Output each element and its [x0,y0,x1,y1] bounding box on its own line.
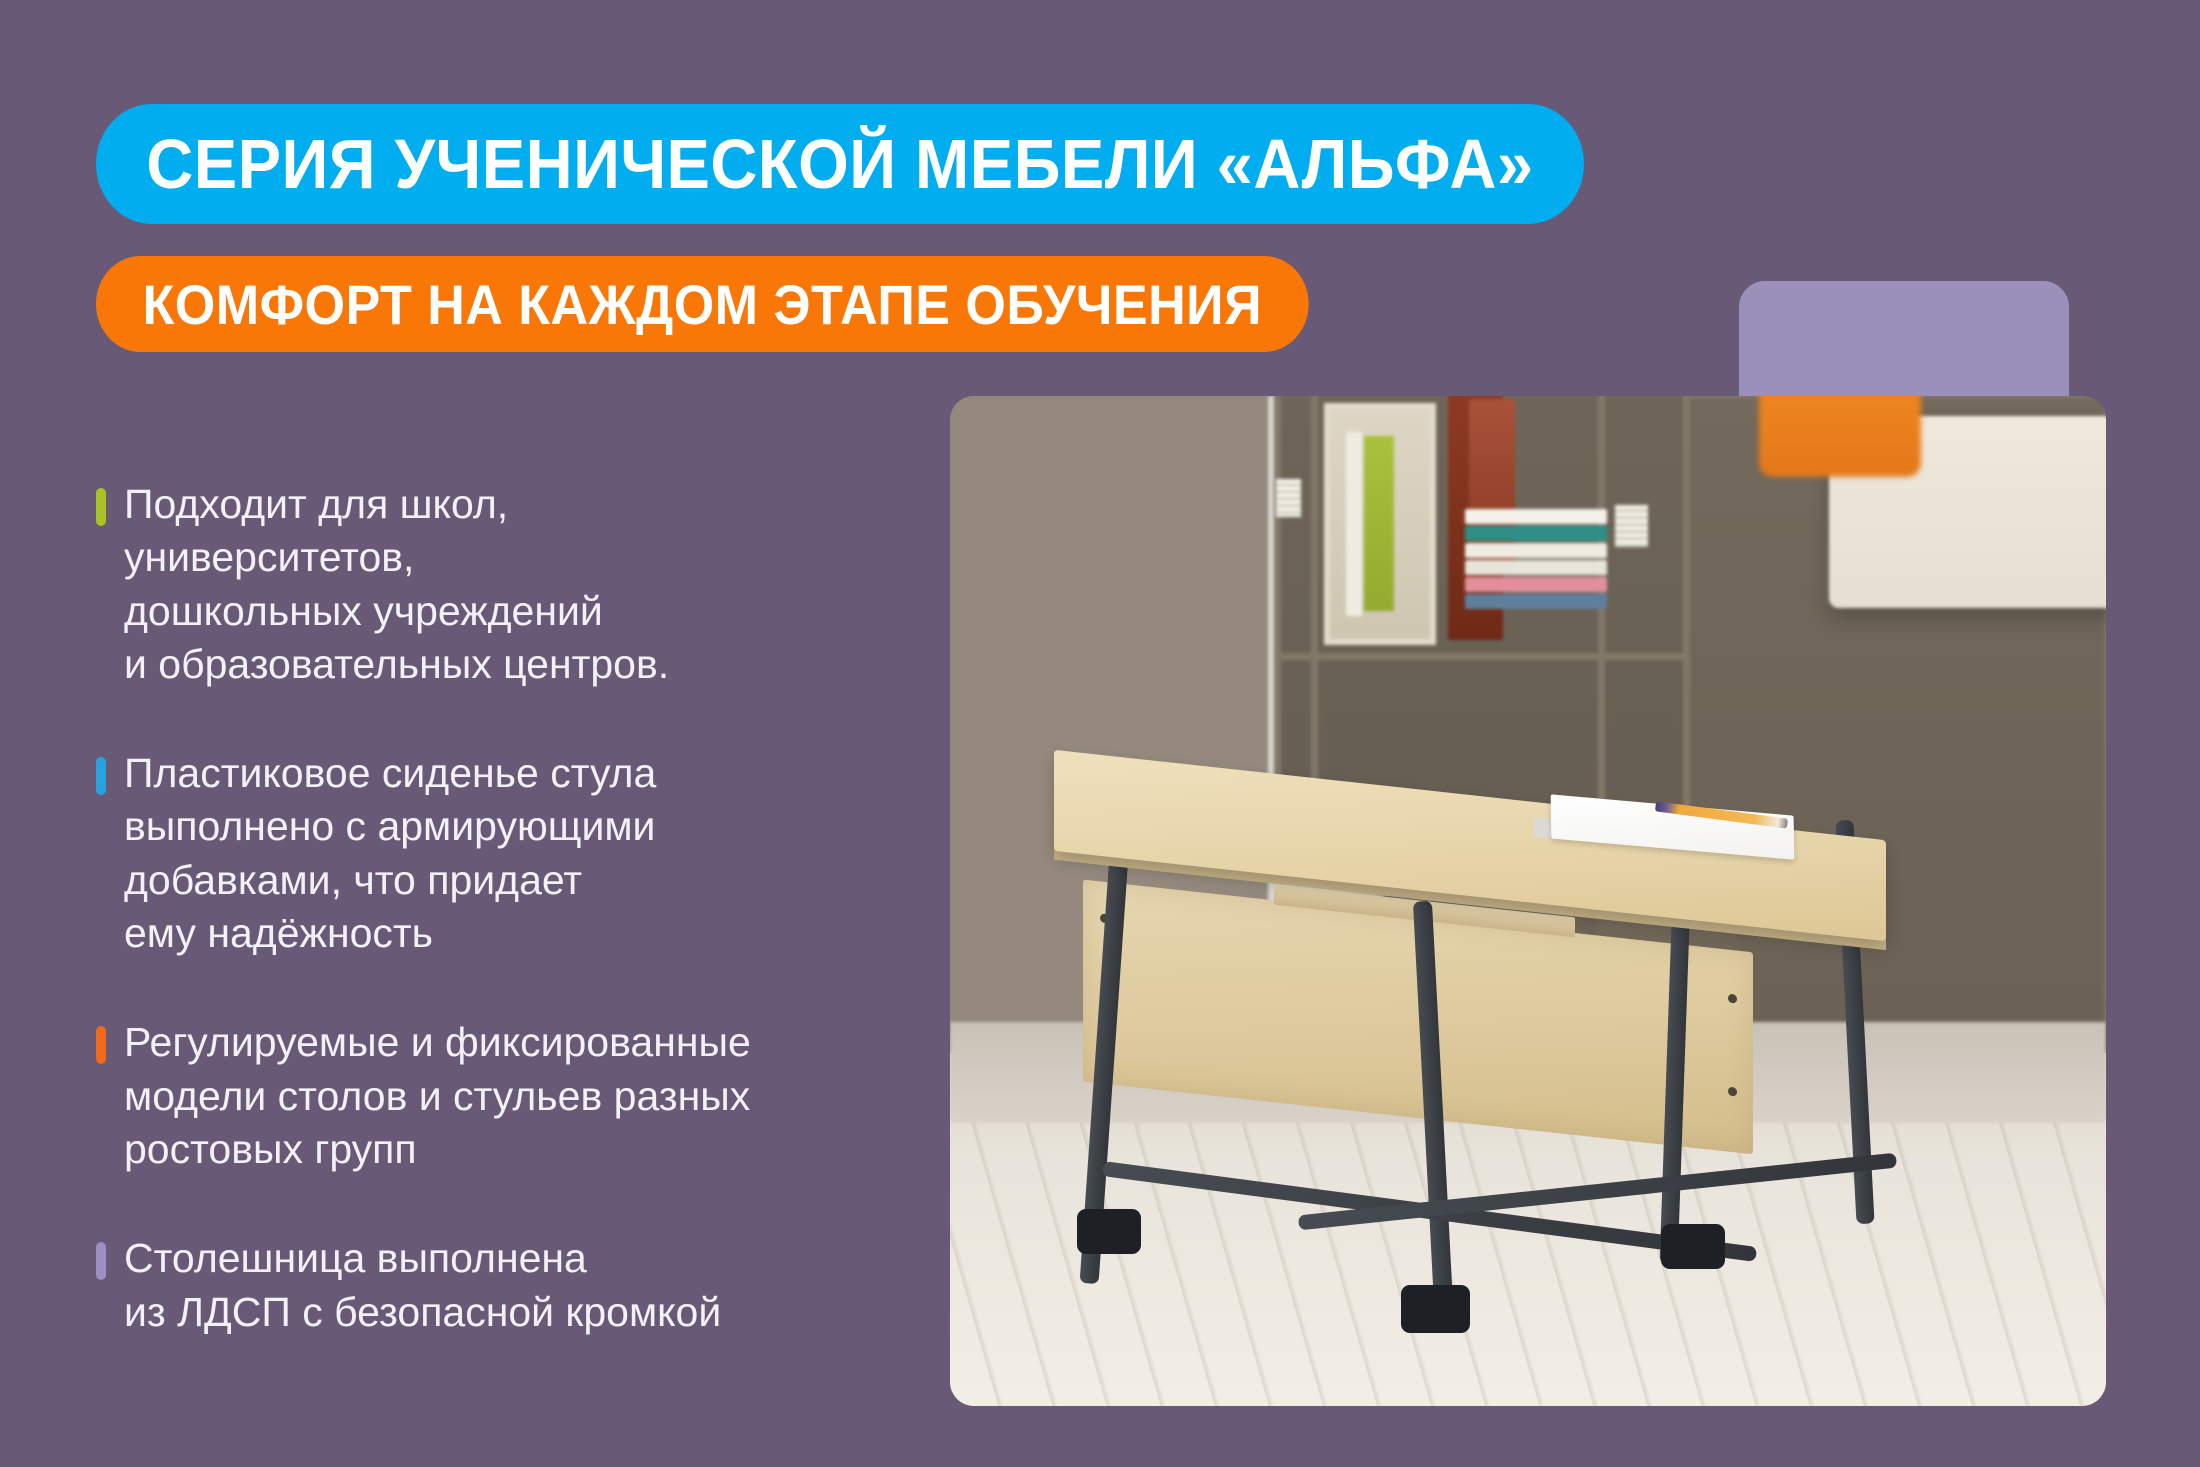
feature-item: Подходит для школ, университетов, дошкол… [96,478,916,691]
feature-text: Пластиковое сиденье стула выполнено с ар… [124,747,916,960]
photo-bookshelf [1274,396,1690,810]
feature-line: университетов, [124,531,916,584]
feature-line: и образовательных центров. [124,638,916,691]
feature-line: дошкольных учреждений [124,585,916,638]
subtitle-banner: КОМФОРТ НА КАЖДОМ ЭТАПЕ ОБУЧЕНИЯ [96,256,1308,352]
feature-line: Регулируемые и фиксированные [124,1016,916,1069]
bullet-marker-icon [96,1026,106,1064]
product-photo [950,396,2106,1406]
feature-line: добавками, что придает [124,854,916,907]
feature-line: ростовых групп [124,1123,916,1176]
feature-item: Столешница выполнена из ЛДСП с безопасно… [96,1232,916,1339]
feature-text: Регулируемые и фиксированные модели стол… [124,1016,916,1176]
feature-line: Столешница выполнена [124,1232,916,1285]
feature-item: Регулируемые и фиксированные модели стол… [96,1016,916,1176]
bullet-marker-icon [96,757,106,795]
poster-root: СЕРИЯ УЧЕНИЧЕСКОЙ МЕБЕЛИ «АЛЬФА» КОМФОРТ… [0,0,2200,1467]
feature-text: Подходит для школ, университетов, дошкол… [124,478,916,691]
feature-line: модели столов и стульев разных [124,1070,916,1123]
photo-desk-foot-3 [1661,1224,1725,1268]
bullet-marker-icon [96,1242,106,1280]
photo-desk-foot-2 [1401,1285,1470,1333]
title-banner: СЕРИЯ УЧЕНИЧЕСКОЙ МЕБЕЛИ «АЛЬФА» [96,104,1584,224]
feature-list: Подходит для школ, университетов, дошкол… [96,478,916,1339]
poster-title: СЕРИЯ УЧЕНИЧЕСКОЙ МЕБЕЛИ «АЛЬФА» [146,124,1533,204]
feature-line: Подходит для школ, [124,478,916,531]
feature-line: Пластиковое сиденье стула [124,747,916,800]
feature-line: из ЛДСП с безопасной кромкой [124,1286,916,1339]
photo-orange-panel [1759,396,1921,477]
feature-line: выполнено с армирующими [124,800,916,853]
poster-subtitle: КОМФОРТ НА КАЖДОМ ЭТАПЕ ОБУЧЕНИЯ [143,272,1262,337]
photo-desk-foot-1 [1077,1209,1141,1254]
feature-item: Пластиковое сиденье стула выполнено с ар… [96,747,916,960]
feature-line: ему надёжность [124,907,916,960]
photo-book-box [1324,403,1436,645]
bullet-marker-icon [96,488,106,526]
feature-text: Столешница выполнена из ЛДСП с безопасно… [124,1232,916,1339]
